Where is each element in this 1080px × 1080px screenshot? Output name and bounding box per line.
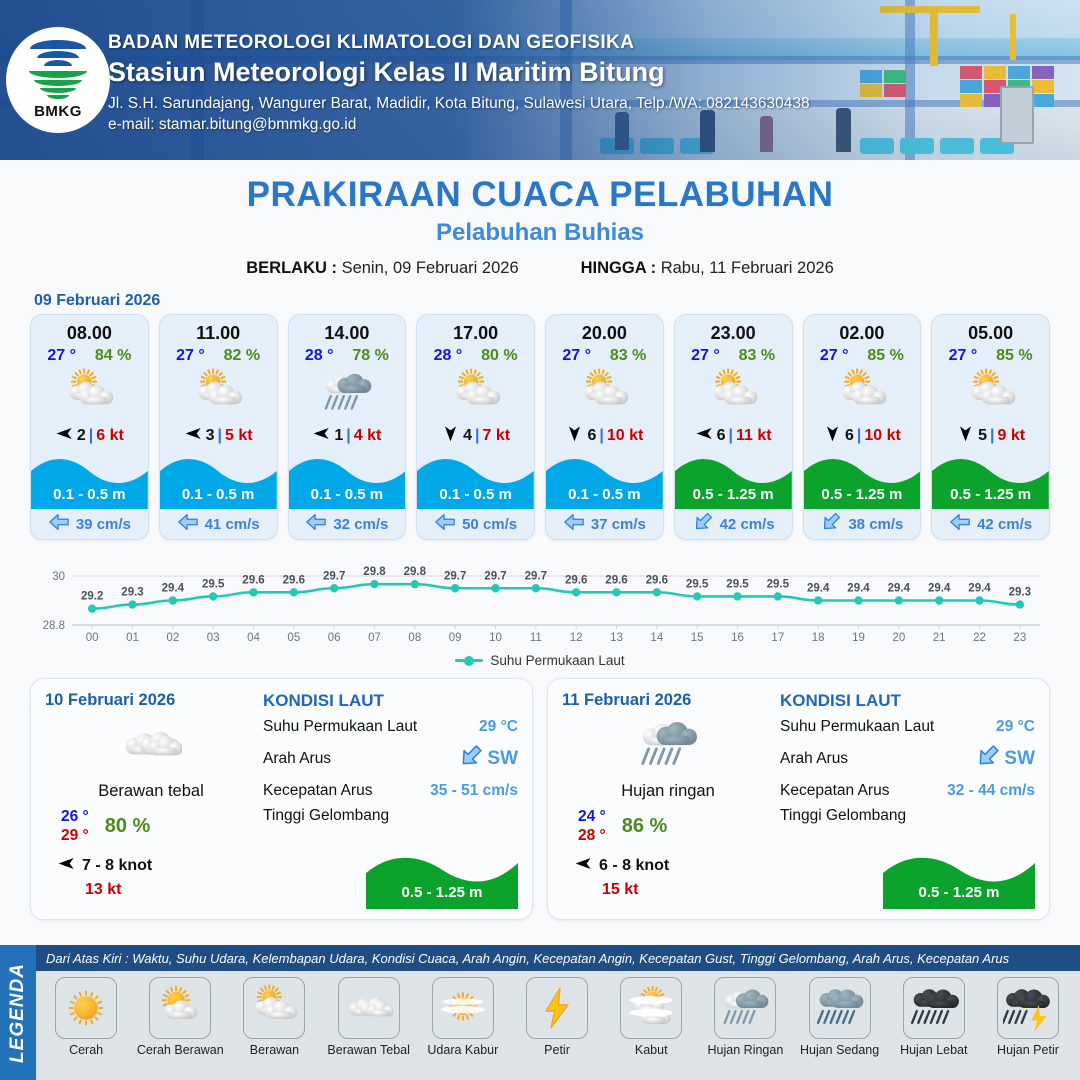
svg-text:29.8: 29.8 — [404, 566, 427, 578]
card-wave: 0.1 - 0.5 m — [417, 451, 534, 509]
legend-item: Hujan Lebat — [888, 977, 980, 1057]
station-name: Stasiun Meteorologi Kelas II Maritim Bit… — [108, 57, 810, 88]
svg-text:08: 08 — [408, 632, 421, 644]
petir-icon — [526, 977, 588, 1039]
card-temperature: 27 ° — [691, 347, 720, 365]
station-address: Jl. S.H. Sarundajang, Wangurer Barat, Ma… — [108, 95, 810, 113]
daily-wind: 6 - 8 knot — [599, 857, 669, 875]
svg-text:29.7: 29.7 — [323, 570, 345, 582]
legend-items: CerahCerah BerawanBerawanBerawan TebalUd… — [36, 971, 1080, 1057]
daily-wind-arrow-icon — [57, 854, 76, 878]
card-wave: 0.1 - 0.5 m — [160, 451, 277, 509]
daily-temp-min: 24 ° — [578, 807, 606, 826]
card-current: 32 cm/s — [289, 509, 406, 539]
card-wave: 0.1 - 0.5 m — [31, 451, 148, 509]
forecast-card: 05.0027 °85 %5|9 kt0.5 - 1.25 m42 cm/s — [931, 314, 1050, 540]
card-wave-height: 0.1 - 0.5 m — [417, 486, 534, 503]
card-current-speed: 50 cm/s — [462, 516, 517, 533]
daily-forecast-panels: 10 Februari 2026Berawan tebal26 °29 °80 … — [0, 668, 1080, 920]
card-separator: | — [218, 427, 222, 445]
svg-text:04: 04 — [247, 632, 260, 644]
card-separator: | — [990, 427, 994, 445]
card-temperature: 27 ° — [176, 347, 205, 365]
svg-text:29.3: 29.3 — [121, 587, 143, 599]
svg-text:29.8: 29.8 — [363, 566, 386, 578]
current-direction-arrow-icon — [820, 511, 842, 537]
svg-text:29.7: 29.7 — [484, 570, 506, 582]
card-current: 41 cm/s — [160, 509, 277, 539]
daily-temp-max: 29 ° — [61, 826, 89, 845]
legend-item: Hujan Ringan — [699, 977, 791, 1057]
svg-text:29.4: 29.4 — [162, 583, 185, 595]
card-humidity: 83 % — [610, 347, 646, 365]
card-wave: 0.1 - 0.5 m — [289, 451, 406, 509]
hujan-ringan-icon — [714, 977, 776, 1039]
card-humidity: 85 % — [867, 347, 903, 365]
forecast-card: 14.0028 °78 %1|4 kt0.1 - 0.5 m32 cm/s — [288, 314, 407, 540]
card-wind-speed: 4 — [463, 427, 472, 445]
forecast-card: 11.0027 °82 %3|5 kt0.1 - 0.5 m41 cm/s — [159, 314, 278, 540]
legend-body: Dari Atas Kiri : Waktu, Suhu Udara, Kele… — [36, 945, 1080, 1080]
legend-item-label: Cerah — [69, 1043, 103, 1057]
svg-text:21: 21 — [933, 632, 946, 644]
wind-direction-arrow-icon — [565, 424, 584, 448]
svg-text:19: 19 — [852, 632, 865, 644]
hourly-forecast-cards: 08.0027 °84 %2|6 kt0.1 - 0.5 m39 cm/s11.… — [0, 314, 1080, 540]
card-humidity: 84 % — [95, 347, 131, 365]
svg-text:17: 17 — [771, 632, 784, 644]
berawan-icon — [932, 365, 1049, 421]
current-direction-arrow-icon — [975, 743, 1001, 775]
svg-text:01: 01 — [126, 632, 139, 644]
legend-item-label: Cerah Berawan — [137, 1043, 224, 1057]
daily-forecast-panel: 11 Februari 2026Hujan ringan24 °28 °86 %… — [547, 678, 1050, 920]
current-direction-value: SW — [975, 743, 1035, 775]
card-time: 05.00 — [932, 315, 1049, 344]
berawan-icon — [243, 977, 305, 1039]
svg-text:20: 20 — [892, 632, 905, 644]
berawan-icon — [804, 365, 921, 421]
daily-gust: 15 kt — [562, 881, 774, 899]
legend-note: Dari Atas Kiri : Waktu, Suhu Udara, Kele… — [36, 945, 1080, 971]
berawan-tebal-icon — [45, 714, 257, 776]
current-speed-label: Kecepatan Arus — [780, 782, 889, 800]
card-humidity: 80 % — [481, 347, 517, 365]
card-current: 37 cm/s — [546, 509, 663, 539]
svg-text:29.5: 29.5 — [202, 578, 225, 590]
daily-condition: Berawan tebal — [45, 782, 257, 801]
svg-text:00: 00 — [86, 632, 99, 644]
card-wave-height: 0.1 - 0.5 m — [289, 486, 406, 503]
svg-text:29.6: 29.6 — [283, 574, 305, 586]
hujan-petir-icon — [997, 977, 1059, 1039]
station-email: e-mail: stamar.bitung@bmmkg.go.id — [108, 116, 810, 134]
forecast-card: 23.0027 °83 %6|11 kt0.5 - 1.25 m42 cm/s — [674, 314, 793, 540]
sst-label: Suhu Permukaan Laut — [780, 718, 934, 736]
svg-text:29.6: 29.6 — [605, 574, 627, 586]
current-direction-arrow-icon — [177, 511, 199, 537]
svg-text:29.6: 29.6 — [565, 574, 587, 586]
card-wave: 0.5 - 1.25 m — [675, 451, 792, 509]
card-time: 20.00 — [546, 315, 663, 344]
card-gust: 9 kt — [998, 427, 1026, 445]
svg-text:29.6: 29.6 — [646, 574, 668, 586]
card-temperature: 27 ° — [562, 347, 591, 365]
daily-wind: 7 - 8 knot — [82, 857, 152, 875]
svg-text:29.4: 29.4 — [888, 583, 911, 595]
wave-height-label: Tinggi Gelombang — [263, 807, 389, 825]
validity-row: BERLAKU : Senin, 09 Februari 2026 HINGGA… — [0, 259, 1080, 278]
svg-text:10: 10 — [489, 632, 502, 644]
berawan-icon — [675, 365, 792, 421]
current-direction-arrow-icon — [434, 511, 456, 537]
current-speed-value: 32 - 44 cm/s — [947, 782, 1035, 800]
daily-humidity: 86 % — [622, 815, 668, 838]
valid-from-label: BERLAKU : — [246, 259, 337, 277]
sst-value: 29 °C — [479, 718, 518, 736]
berawan-icon — [417, 365, 534, 421]
svg-text:29.2: 29.2 — [81, 591, 103, 603]
card-separator: | — [475, 427, 479, 445]
card-current-speed: 37 cm/s — [591, 516, 646, 533]
card-gust: 5 kt — [225, 427, 253, 445]
svg-text:14: 14 — [650, 632, 663, 644]
wind-direction-arrow-icon — [55, 424, 74, 448]
svg-text:29.4: 29.4 — [928, 583, 951, 595]
card-gust: 6 kt — [96, 427, 124, 445]
svg-text:11: 11 — [530, 632, 542, 644]
card-time: 17.00 — [417, 315, 534, 344]
berawan-icon — [546, 365, 663, 421]
current-direction-label: Arah Arus — [780, 750, 848, 768]
berawan-tebal-icon — [338, 977, 400, 1039]
wind-direction-arrow-icon — [441, 424, 460, 448]
sea-conditions-title: KONDISI LAUT — [780, 691, 1035, 711]
card-gust: 4 kt — [354, 427, 382, 445]
daily-wave-height: 0.5 - 1.25 m — [883, 884, 1035, 901]
sea-conditions-title: KONDISI LAUT — [263, 691, 518, 711]
svg-text:15: 15 — [691, 632, 704, 644]
card-separator: | — [857, 427, 861, 445]
svg-text:29.3: 29.3 — [1009, 587, 1031, 599]
legend-item-label: Petir — [544, 1043, 570, 1057]
cerah-berawan-icon — [149, 977, 211, 1039]
svg-text:05: 05 — [287, 632, 300, 644]
card-time: 23.00 — [675, 315, 792, 344]
card-wind-speed: 6 — [717, 427, 726, 445]
svg-text:29.7: 29.7 — [444, 570, 466, 582]
svg-text:12: 12 — [570, 632, 583, 644]
valid-from: BERLAKU : Senin, 09 Februari 2026 — [246, 259, 518, 278]
daily-condition: Hujan ringan — [562, 782, 774, 801]
chart-legend-marker-icon — [455, 659, 483, 662]
card-wave-height: 0.1 - 0.5 m — [31, 486, 148, 503]
valid-to-label: HINGGA : — [581, 259, 656, 277]
legend-item-label: Berawan — [250, 1043, 299, 1057]
wind-direction-arrow-icon — [184, 424, 203, 448]
card-separator: | — [346, 427, 350, 445]
card-current: 38 cm/s — [804, 509, 921, 539]
valid-to: HINGGA : Rabu, 11 Februari 2026 — [581, 259, 834, 278]
card-temperature: 28 ° — [305, 347, 334, 365]
card-temperature: 27 ° — [949, 347, 978, 365]
svg-text:29.4: 29.4 — [968, 583, 991, 595]
chart-legend-label: Suhu Permukaan Laut — [490, 653, 624, 668]
current-direction-arrow-icon — [692, 511, 714, 537]
card-humidity: 83 % — [739, 347, 775, 365]
legend-item-label: Hujan Petir — [997, 1043, 1059, 1057]
udara-kabur-icon — [432, 977, 494, 1039]
card-time: 11.00 — [160, 315, 277, 344]
legend-tab-label: LEGENDA — [7, 963, 29, 1063]
valid-to-value: Rabu, 11 Februari 2026 — [661, 259, 834, 277]
svg-text:18: 18 — [812, 632, 825, 644]
svg-text:29.7: 29.7 — [525, 570, 547, 582]
card-current-speed: 39 cm/s — [76, 516, 131, 533]
svg-text:29.5: 29.5 — [686, 578, 709, 590]
svg-text:16: 16 — [731, 632, 744, 644]
card-wave: 0.5 - 1.25 m — [932, 451, 1049, 509]
forecast-card: 17.0028 °80 %4|7 kt0.1 - 0.5 m50 cm/s — [416, 314, 535, 540]
card-current-speed: 38 cm/s — [848, 516, 903, 533]
svg-text:29.5: 29.5 — [767, 578, 790, 590]
card-gust: 10 kt — [607, 427, 643, 445]
berawan-icon — [160, 365, 277, 421]
daily-temp-max: 28 ° — [578, 826, 606, 845]
legend-item: Cerah Berawan — [134, 977, 226, 1057]
valid-from-value: Senin, 09 Februari 2026 — [342, 259, 519, 277]
svg-text:23: 23 — [1013, 632, 1026, 644]
logo-arcs-icon — [27, 40, 89, 70]
forecast-card: 08.0027 °84 %2|6 kt0.1 - 0.5 m39 cm/s — [30, 314, 149, 540]
berawan-icon — [31, 365, 148, 421]
legend-item-label: Udara Kabur — [427, 1043, 498, 1057]
daily-forecast-panel: 10 Februari 2026Berawan tebal26 °29 °80 … — [30, 678, 533, 920]
card-wind-speed: 1 — [334, 427, 343, 445]
legend-item: Hujan Sedang — [794, 977, 886, 1057]
card-wind-speed: 2 — [77, 427, 86, 445]
card-wind-speed: 3 — [206, 427, 215, 445]
hujan-ringan-icon — [289, 365, 406, 421]
daily-left: 11 Februari 2026Hujan ringan24 °28 °86 %… — [562, 691, 774, 909]
current-direction-arrow-icon — [458, 743, 484, 775]
card-temperature: 28 ° — [434, 347, 463, 365]
card-current: 42 cm/s — [675, 509, 792, 539]
card-wind-speed: 5 — [978, 427, 987, 445]
forecast-card: 20.0027 °83 %6|10 kt0.1 - 0.5 m37 cm/s — [545, 314, 664, 540]
svg-text:29.5: 29.5 — [726, 578, 749, 590]
card-wave: 0.1 - 0.5 m — [546, 451, 663, 509]
card-wave-height: 0.5 - 1.25 m — [675, 486, 792, 503]
forecast-card: 02.0027 °85 %6|10 kt0.5 - 1.25 m38 cm/s — [803, 314, 922, 540]
hourly-date-label: 09 Februari 2026 — [34, 292, 1080, 310]
svg-text:03: 03 — [207, 632, 220, 644]
card-wind-speed: 6 — [587, 427, 596, 445]
daily-humidity: 80 % — [105, 815, 151, 838]
card-time: 08.00 — [31, 315, 148, 344]
hujan-ringan-icon — [562, 714, 774, 776]
daily-temp-min: 26 ° — [61, 807, 89, 826]
current-direction-label: Arah Arus — [263, 750, 331, 768]
svg-text:06: 06 — [328, 632, 341, 644]
logo-waves-icon — [27, 71, 89, 101]
sst-chart: 3028.80001020304050607080910111213141516… — [26, 554, 1054, 649]
hujan-sedang-icon — [809, 977, 871, 1039]
current-speed-value: 35 - 51 cm/s — [430, 782, 518, 800]
legend-footer: LEGENDA Dari Atas Kiri : Waktu, Suhu Uda… — [0, 945, 1080, 1080]
legend-item-label: Hujan Lebat — [900, 1043, 967, 1057]
card-temperature: 27 ° — [820, 347, 849, 365]
card-current: 39 cm/s — [31, 509, 148, 539]
legend-item: Udara Kabur — [417, 977, 509, 1057]
current-direction-arrow-icon — [949, 511, 971, 537]
card-humidity: 85 % — [996, 347, 1032, 365]
header-text-block: BADAN METEOROLOGI KLIMATOLOGI DAN GEOFIS… — [108, 32, 810, 134]
card-humidity: 78 % — [352, 347, 388, 365]
svg-text:02: 02 — [166, 632, 179, 644]
card-wind-speed: 6 — [845, 427, 854, 445]
card-current: 42 cm/s — [932, 509, 1049, 539]
legend-item-label: Hujan Sedang — [800, 1043, 879, 1057]
sst-label: Suhu Permukaan Laut — [263, 718, 417, 736]
svg-text:29.4: 29.4 — [847, 583, 870, 595]
daily-wind-arrow-icon — [574, 854, 593, 878]
card-gust: 7 kt — [483, 427, 511, 445]
card-wave-height: 0.1 - 0.5 m — [546, 486, 663, 503]
card-temperature: 27 ° — [47, 347, 76, 365]
legend-item: Petir — [511, 977, 603, 1057]
daily-sea-conditions: KONDISI LAUTSuhu Permukaan Laut29 °CArah… — [774, 691, 1035, 909]
org-name: BADAN METEOROLOGI KLIMATOLOGI DAN GEOFIS… — [108, 32, 810, 54]
legend-item: Berawan Tebal — [323, 977, 415, 1057]
legend-item: Berawan — [228, 977, 320, 1057]
sst-value: 29 °C — [996, 718, 1035, 736]
current-direction-arrow-icon — [305, 511, 327, 537]
card-wave-height: 0.1 - 0.5 m — [160, 486, 277, 503]
legend-item-label: Hujan Ringan — [708, 1043, 784, 1057]
hujan-lebat-icon — [903, 977, 965, 1039]
svg-text:29.4: 29.4 — [807, 583, 830, 595]
card-current-speed: 41 cm/s — [205, 516, 260, 533]
legend-item-label: Kabut — [635, 1043, 668, 1057]
svg-text:13: 13 — [610, 632, 623, 644]
page-header: BMKG BADAN METEOROLOGI KLIMATOLOGI DAN G… — [0, 0, 1080, 160]
daily-date: 10 Februari 2026 — [45, 691, 257, 710]
svg-text:22: 22 — [973, 632, 986, 644]
page-title: PRAKIRAAN CUACA PELABUHAN — [0, 175, 1080, 215]
daily-gust: 13 kt — [45, 881, 257, 899]
card-separator: | — [729, 427, 733, 445]
legend-tab: LEGENDA — [0, 945, 36, 1080]
legend-item: Hujan Petir — [982, 977, 1074, 1057]
card-humidity: 82 % — [224, 347, 260, 365]
svg-text:29.6: 29.6 — [242, 574, 264, 586]
card-current-speed: 42 cm/s — [720, 516, 775, 533]
chart-legend: Suhu Permukaan Laut — [0, 653, 1080, 668]
legend-item: Cerah — [40, 977, 132, 1057]
daily-sea-conditions: KONDISI LAUTSuhu Permukaan Laut29 °CArah… — [257, 691, 518, 909]
card-wave: 0.5 - 1.25 m — [804, 451, 921, 509]
card-separator: | — [89, 427, 93, 445]
daily-left: 10 Februari 2026Berawan tebal26 °29 °80 … — [45, 691, 257, 909]
card-gust: 11 kt — [736, 427, 772, 445]
svg-text:09: 09 — [449, 632, 462, 644]
wind-direction-arrow-icon — [823, 424, 842, 448]
daily-date: 11 Februari 2026 — [562, 691, 774, 710]
current-speed-label: Kecepatan Arus — [263, 782, 372, 800]
wave-height-label: Tinggi Gelombang — [780, 807, 906, 825]
card-current-speed: 32 cm/s — [333, 516, 388, 533]
svg-text:30: 30 — [52, 571, 65, 583]
card-gust: 10 kt — [864, 427, 900, 445]
current-direction-arrow-icon — [48, 511, 70, 537]
wind-direction-arrow-icon — [956, 424, 975, 448]
card-separator: | — [599, 427, 603, 445]
legend-item-label: Berawan Tebal — [327, 1043, 409, 1057]
current-direction-arrow-icon — [563, 511, 585, 537]
card-current-speed: 42 cm/s — [977, 516, 1032, 533]
cerah-icon — [55, 977, 117, 1039]
wind-direction-arrow-icon — [312, 424, 331, 448]
daily-wave-height: 0.5 - 1.25 m — [366, 884, 518, 901]
wind-direction-arrow-icon — [695, 424, 714, 448]
card-current: 50 cm/s — [417, 509, 534, 539]
legend-item: Kabut — [605, 977, 697, 1057]
bmkg-logo: BMKG — [6, 27, 110, 133]
card-wave-height: 0.5 - 1.25 m — [932, 486, 1049, 503]
svg-text:28.8: 28.8 — [43, 620, 65, 632]
svg-text:07: 07 — [368, 632, 381, 644]
logo-text: BMKG — [34, 103, 82, 120]
kabut-icon — [620, 977, 682, 1039]
card-time: 02.00 — [804, 315, 921, 344]
page-subtitle: Pelabuhan Buhias — [0, 219, 1080, 247]
card-wave-height: 0.5 - 1.25 m — [804, 486, 921, 503]
sst-chart-svg: 3028.80001020304050607080910111213141516… — [26, 554, 1054, 649]
card-time: 14.00 — [289, 315, 406, 344]
current-direction-value: SW — [458, 743, 518, 775]
